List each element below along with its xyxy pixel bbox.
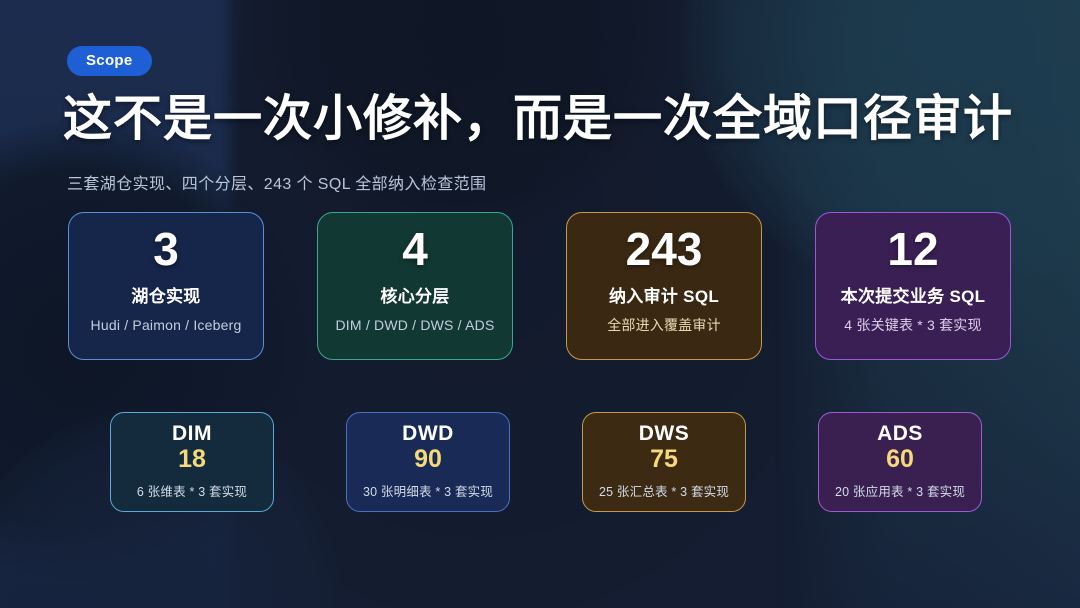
layer-card-count: 60 — [886, 446, 914, 474]
summary-card-detail: 全部进入覆盖审计 — [577, 315, 752, 335]
layer-card-ads: ADS 60 20 张应用表 * 3 套实现 — [818, 412, 982, 512]
layer-card-name: DWS — [639, 423, 690, 445]
page-subtitle: 三套湖仓实现、四个分层、243 个 SQL 全部纳入检查范围 — [67, 170, 486, 194]
summary-card-lakehouse: 3 湖仓实现 Hudi / Paimon / Iceberg — [68, 212, 264, 360]
layer-card-count: 90 — [414, 446, 442, 474]
layer-card-dim: DIM 18 6 张维表 * 3 套实现 — [110, 412, 274, 512]
summary-card-detail: Hudi / Paimon / Iceberg — [79, 315, 254, 335]
layer-card-detail: 30 张明细表 * 3 套实现 — [363, 481, 493, 500]
layer-card-dwd: DWD 90 30 张明细表 * 3 套实现 — [346, 412, 510, 512]
summary-card-row: 3 湖仓实现 Hudi / Paimon / Iceberg 4 核心分层 DI… — [68, 212, 1012, 360]
summary-card-value: 12 — [887, 226, 938, 273]
summary-card-label: 本次提交业务 SQL — [841, 282, 986, 307]
summary-card-detail: DIM / DWD / DWS / ADS — [328, 315, 503, 335]
scope-badge: Scope — [67, 46, 152, 76]
summary-card-layers: 4 核心分层 DIM / DWD / DWS / ADS — [317, 212, 513, 360]
summary-card-submitted-sql: 12 本次提交业务 SQL 4 张关键表 * 3 套实现 — [815, 212, 1011, 360]
layer-card-name: DWD — [402, 423, 454, 445]
layer-card-name: DIM — [172, 423, 212, 445]
layer-card-row: DIM 18 6 张维表 * 3 套实现 DWD 90 30 张明细表 * 3 … — [110, 412, 990, 512]
summary-card-detail: 4 张关键表 * 3 套实现 — [826, 315, 1001, 335]
layer-card-detail: 25 张汇总表 * 3 套实现 — [599, 481, 729, 500]
summary-card-label: 纳入审计 SQL — [609, 282, 719, 307]
summary-card-label: 核心分层 — [380, 282, 449, 307]
layer-card-dws: DWS 75 25 张汇总表 * 3 套实现 — [582, 412, 746, 512]
layer-card-count: 18 — [178, 446, 206, 474]
summary-card-value: 243 — [626, 226, 703, 273]
layer-card-detail: 6 张维表 * 3 套实现 — [137, 481, 247, 500]
page-title: 这不是一次小修补，而是一次全域口径审计 — [63, 91, 1013, 147]
layer-card-detail: 20 张应用表 * 3 套实现 — [835, 481, 965, 500]
summary-card-audited-sql: 243 纳入审计 SQL 全部进入覆盖审计 — [566, 212, 762, 360]
slide-content: Scope 这不是一次小修补，而是一次全域口径审计 三套湖仓实现、四个分层、24… — [0, 0, 1080, 608]
layer-card-count: 75 — [650, 446, 678, 474]
summary-card-value: 4 — [402, 226, 428, 273]
summary-card-label: 湖仓实现 — [131, 282, 200, 307]
layer-card-name: ADS — [877, 423, 923, 445]
summary-card-value: 3 — [153, 226, 179, 273]
